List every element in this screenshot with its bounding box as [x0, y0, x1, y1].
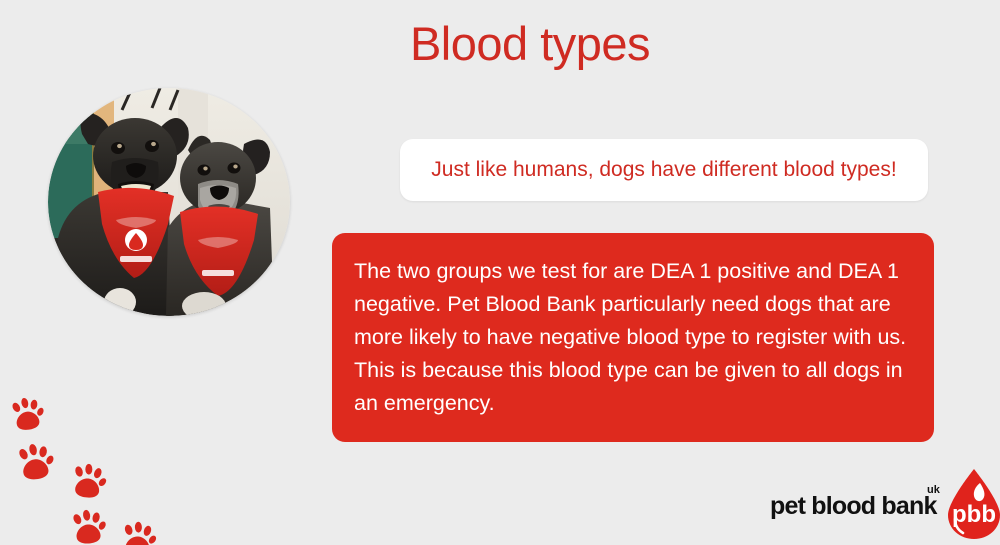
pet-blood-bank-logo: pet blood bank uk pbb: [770, 470, 986, 540]
logo-wordmark: pet blood bank: [770, 492, 937, 521]
paw-print-1: [6, 394, 49, 437]
callout-banner: Just like humans, dogs have different bl…: [400, 139, 928, 201]
paw-print-4: [67, 507, 110, 545]
paw-print-2: [12, 440, 58, 486]
callout-banner-text: Just like humans, dogs have different bl…: [417, 157, 910, 183]
blood-drop-icon: pbb: [936, 467, 1000, 543]
slide-canvas: Blood types: [0, 0, 1000, 545]
info-box: The two groups we test for are DEA 1 pos…: [332, 233, 934, 442]
info-box-text: The two groups we test for are DEA 1 pos…: [354, 255, 908, 420]
dogs-photo-illustration: [48, 88, 290, 316]
blood-drop-label: pbb: [952, 501, 996, 528]
page-title: Blood types: [330, 14, 730, 74]
paw-print-5: [117, 519, 160, 545]
paw-print-3: [66, 460, 110, 504]
dogs-photo-circle: [48, 88, 290, 316]
